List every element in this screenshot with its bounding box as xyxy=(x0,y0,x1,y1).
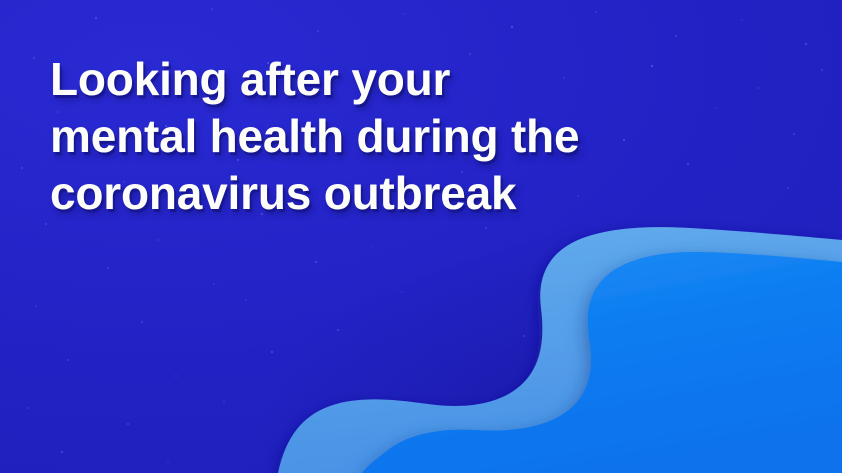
page-title: Looking after your mental health during … xyxy=(50,51,750,222)
headline-line-1: Looking after your xyxy=(50,51,750,108)
headline-line-2: mental health during the xyxy=(50,108,750,165)
headline-line-3: coronavirus outbreak xyxy=(50,165,750,222)
banner-canvas: Looking after your mental health during … xyxy=(0,0,842,473)
wave-front-layer xyxy=(362,252,842,473)
